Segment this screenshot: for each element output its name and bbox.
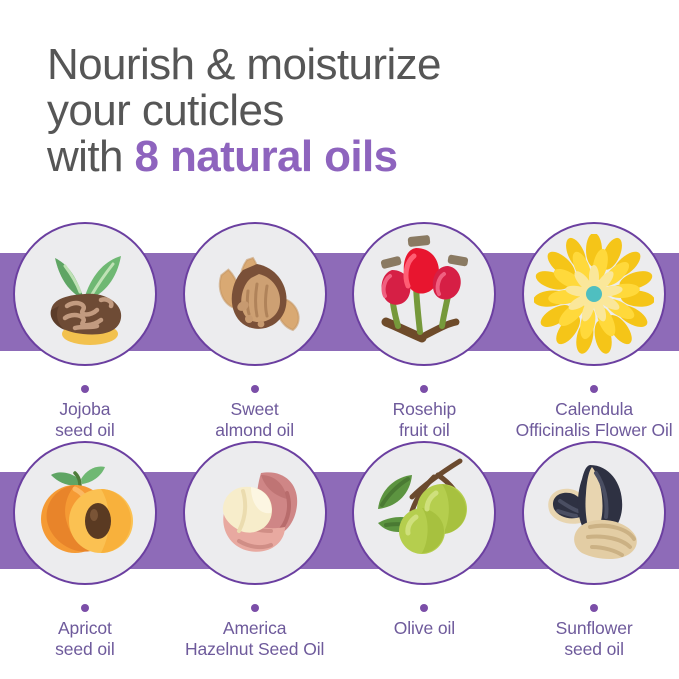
headline-line-1: Nourish & moisturize — [47, 42, 647, 88]
olive-icon — [364, 453, 484, 573]
rosehip-circle — [352, 222, 496, 366]
oil-item-rosehip[interactable]: Rosehip fruit oil — [340, 222, 510, 441]
oil-label: Olive oil — [394, 618, 455, 639]
sweet-almond-icon — [195, 234, 315, 354]
headline-accent: 8 natural oils — [134, 132, 397, 181]
oil-item-apricot[interactable]: Apricot seed oil — [0, 441, 170, 660]
apricot-circle — [13, 441, 157, 585]
hazelnut-icon — [195, 453, 315, 573]
apricot-icon — [25, 453, 145, 573]
page-title: Nourish & moisturize your cuticles with … — [47, 42, 647, 180]
oil-item-sweet-almond[interactable]: Sweet almond oil — [170, 222, 340, 441]
infographic-root: Nourish & moisturize your cuticles with … — [0, 0, 679, 679]
hazelnut-circle — [183, 441, 327, 585]
jojoba-seed-icon — [25, 234, 145, 354]
oil-item-calendula[interactable]: Calendula Officinalis Flower Oil — [509, 222, 679, 441]
oil-label: Jojoba seed oil — [55, 399, 115, 441]
oil-label: America Hazelnut Seed Oil — [185, 618, 324, 660]
oil-item-sunflower[interactable]: Sunflower seed oil — [509, 441, 679, 660]
connector-dot — [81, 385, 89, 393]
olive-circle — [352, 441, 496, 585]
oil-row-1: Jojoba seed oil — [0, 222, 679, 441]
oil-label: Apricot seed oil — [55, 618, 115, 660]
rosehip-fruit-icon — [364, 234, 484, 354]
connector-dot — [251, 385, 259, 393]
sunflower-seed-icon — [534, 453, 654, 573]
connector-dot — [420, 385, 428, 393]
oil-label: Calendula Officinalis Flower Oil — [516, 399, 673, 441]
connector-dot — [590, 604, 598, 612]
connector-dot — [590, 385, 598, 393]
headline-line-3: with 8 natural oils — [47, 134, 647, 180]
jojoba-circle — [13, 222, 157, 366]
oil-label: Rosehip fruit oil — [393, 399, 457, 441]
oil-item-hazelnut[interactable]: America Hazelnut Seed Oil — [170, 441, 340, 660]
sunflower-circle — [522, 441, 666, 585]
oil-item-olive[interactable]: Olive oil — [340, 441, 510, 660]
calendula-flower-icon — [534, 234, 654, 354]
headline-line-2: your cuticles — [47, 88, 647, 134]
connector-dot — [81, 604, 89, 612]
headline-line-3-prefix: with — [47, 132, 134, 181]
oil-item-jojoba[interactable]: Jojoba seed oil — [0, 222, 170, 441]
calendula-circle — [522, 222, 666, 366]
connector-dot — [420, 604, 428, 612]
sweet-almond-circle — [183, 222, 327, 366]
oil-label: Sweet almond oil — [215, 399, 294, 441]
oil-label: Sunflower seed oil — [556, 618, 633, 660]
connector-dot — [251, 604, 259, 612]
oil-row-2: Apricot seed oil America Hazelnut Seed O… — [0, 441, 679, 660]
